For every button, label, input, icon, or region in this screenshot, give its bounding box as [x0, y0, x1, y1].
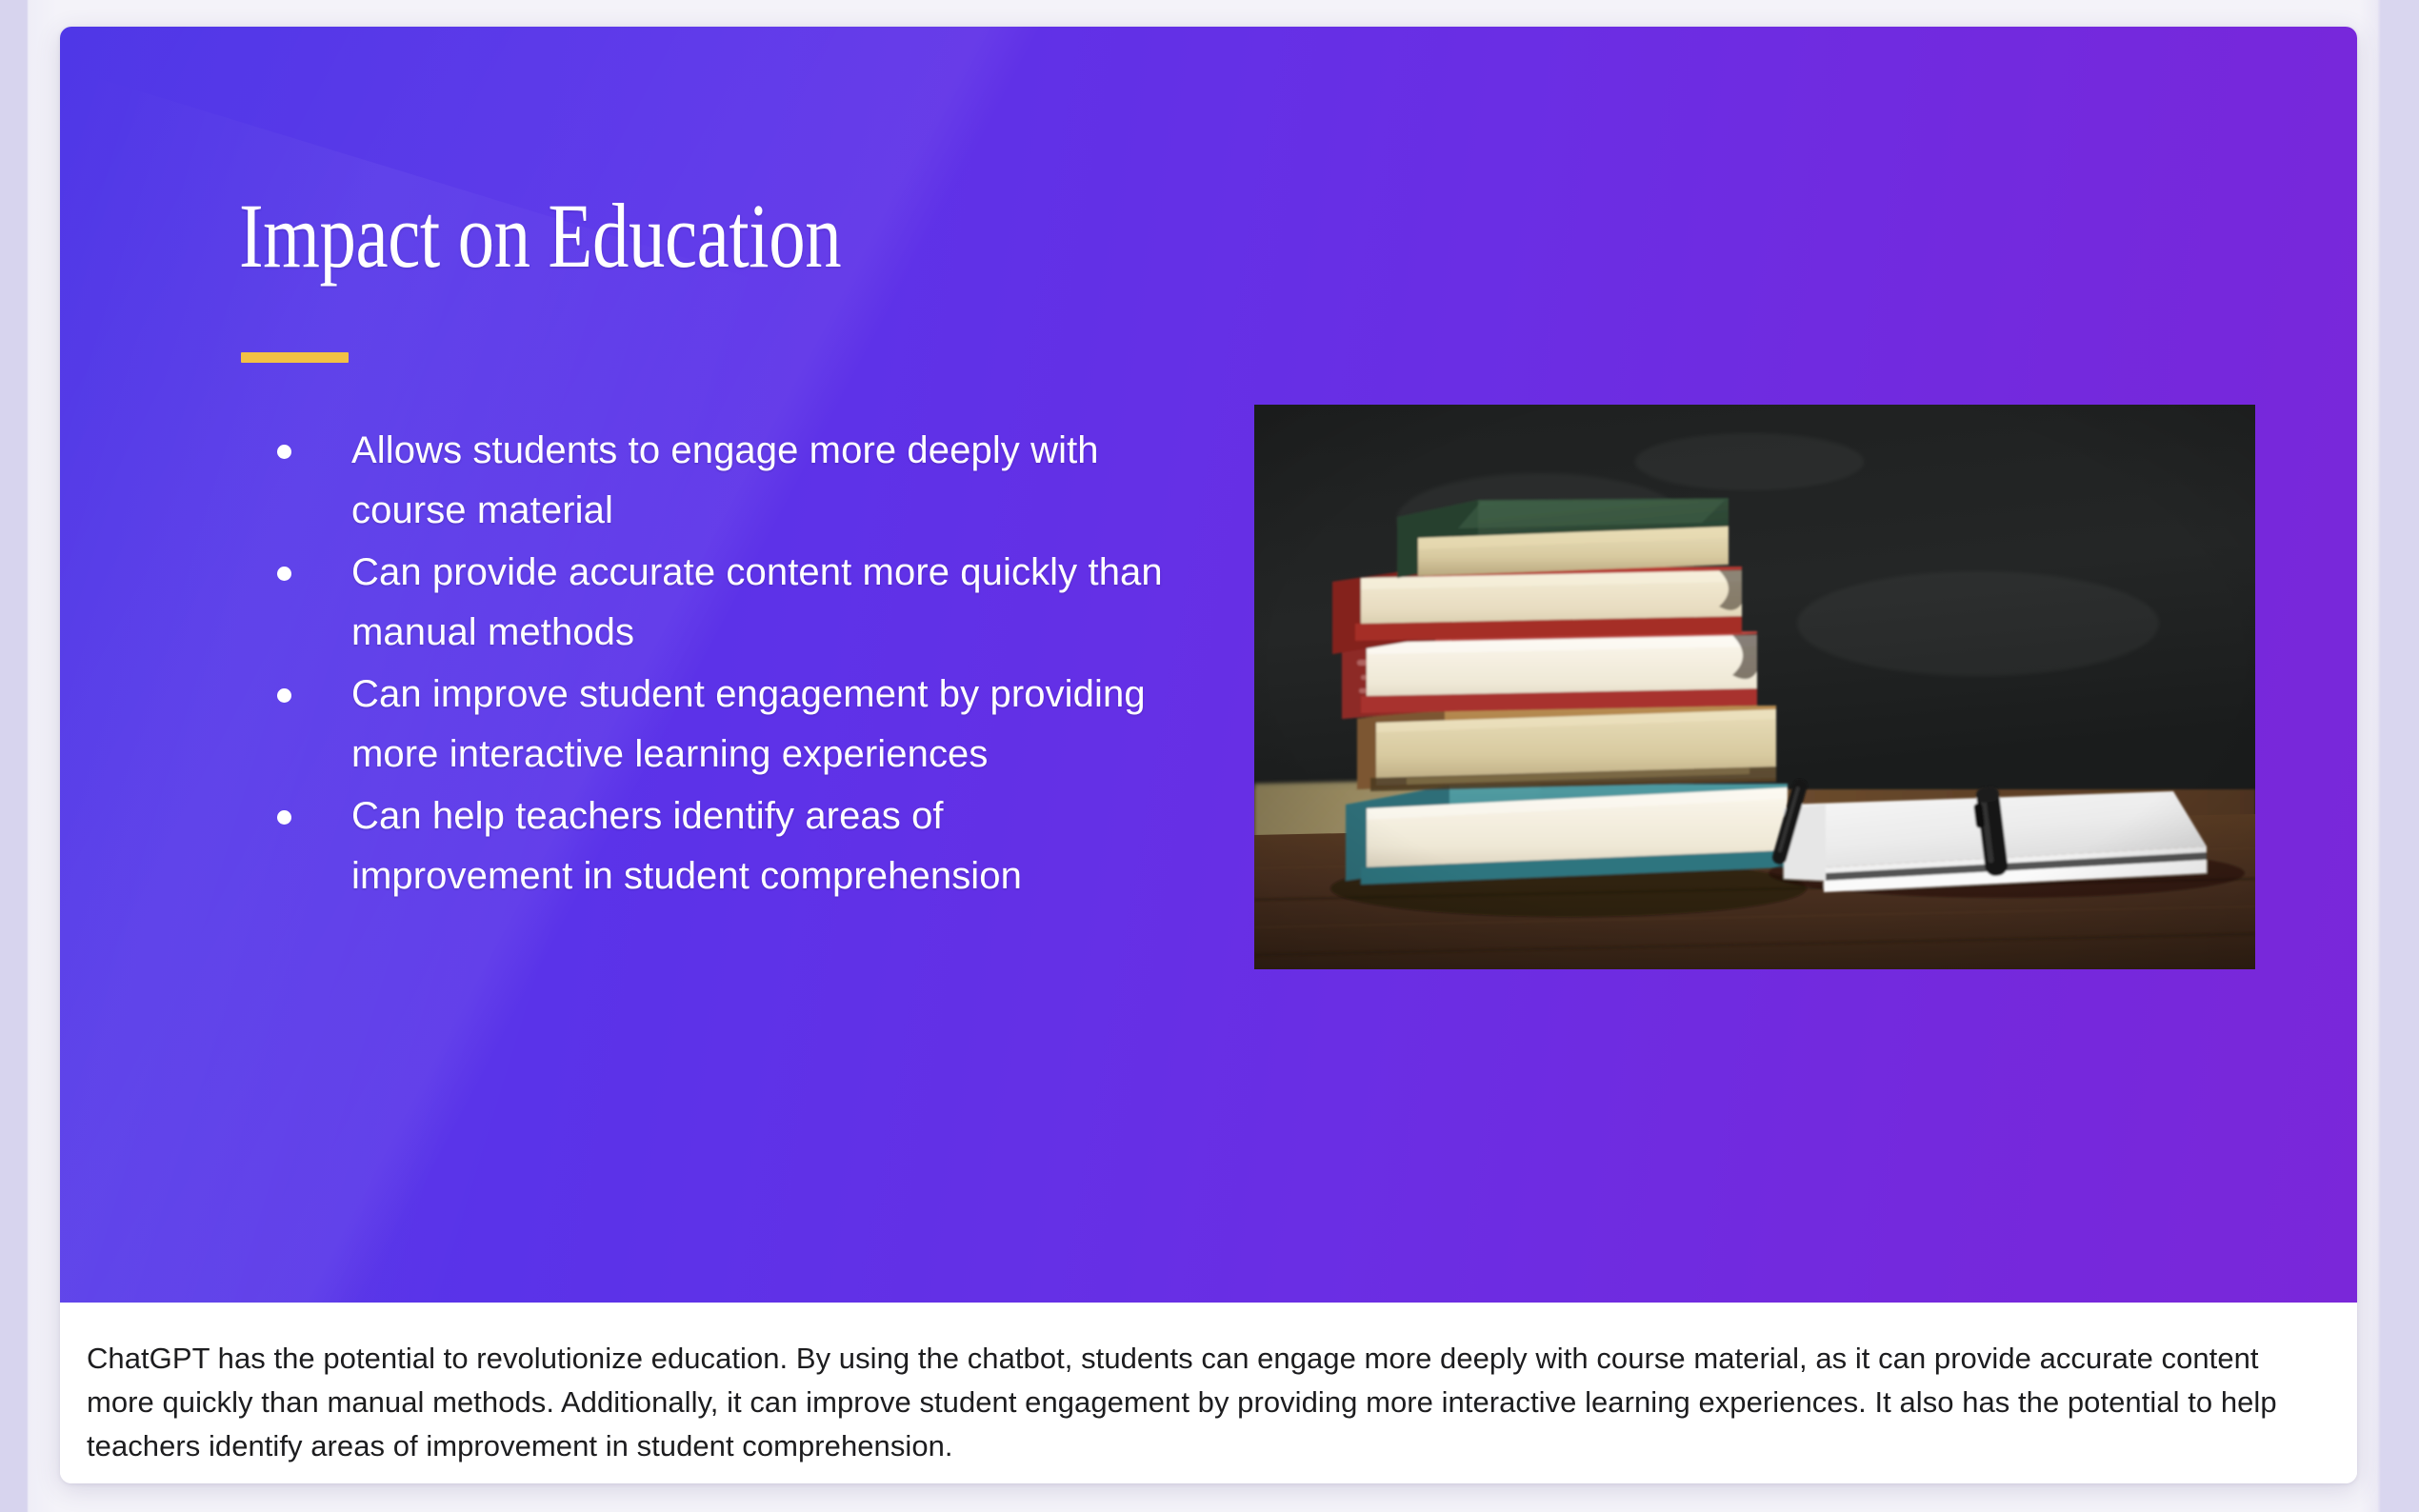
- bullet-text: Can help teachers identify areas of impr…: [351, 795, 1022, 897]
- slide-title: Impact on Education: [239, 190, 841, 282]
- bullet-dot-icon: [277, 445, 291, 459]
- presentation-slide[interactable]: Impact on Education Allows students to e…: [60, 27, 2357, 1303]
- slide-photo: [1254, 405, 2255, 969]
- books-on-desk-illustration: [1254, 405, 2255, 969]
- title-accent-rule: [241, 352, 349, 363]
- bullet-text: Can provide accurate content more quickl…: [351, 551, 1163, 653]
- caption-text: ChatGPT has the potential to revolutioni…: [87, 1337, 2306, 1468]
- bullet-text: Can improve student engagement by provid…: [351, 673, 1146, 775]
- bullet-list: Allows students to engage more deeply wi…: [256, 421, 1170, 908]
- bullet-item: Allows students to engage more deeply wi…: [256, 421, 1170, 541]
- bullet-item: Can help teachers identify areas of impr…: [256, 786, 1170, 906]
- bullet-item: Can improve student engagement by provid…: [256, 665, 1170, 785]
- slide-card: Impact on Education Allows students to e…: [60, 27, 2357, 1483]
- bullet-dot-icon: [277, 567, 291, 581]
- bullet-text: Allows students to engage more deeply wi…: [351, 429, 1099, 531]
- bullet-dot-icon: [277, 810, 291, 825]
- bullet-item: Can provide accurate content more quickl…: [256, 543, 1170, 663]
- bullet-dot-icon: [277, 688, 291, 703]
- caption-bar: ChatGPT has the potential to revolutioni…: [60, 1303, 2357, 1483]
